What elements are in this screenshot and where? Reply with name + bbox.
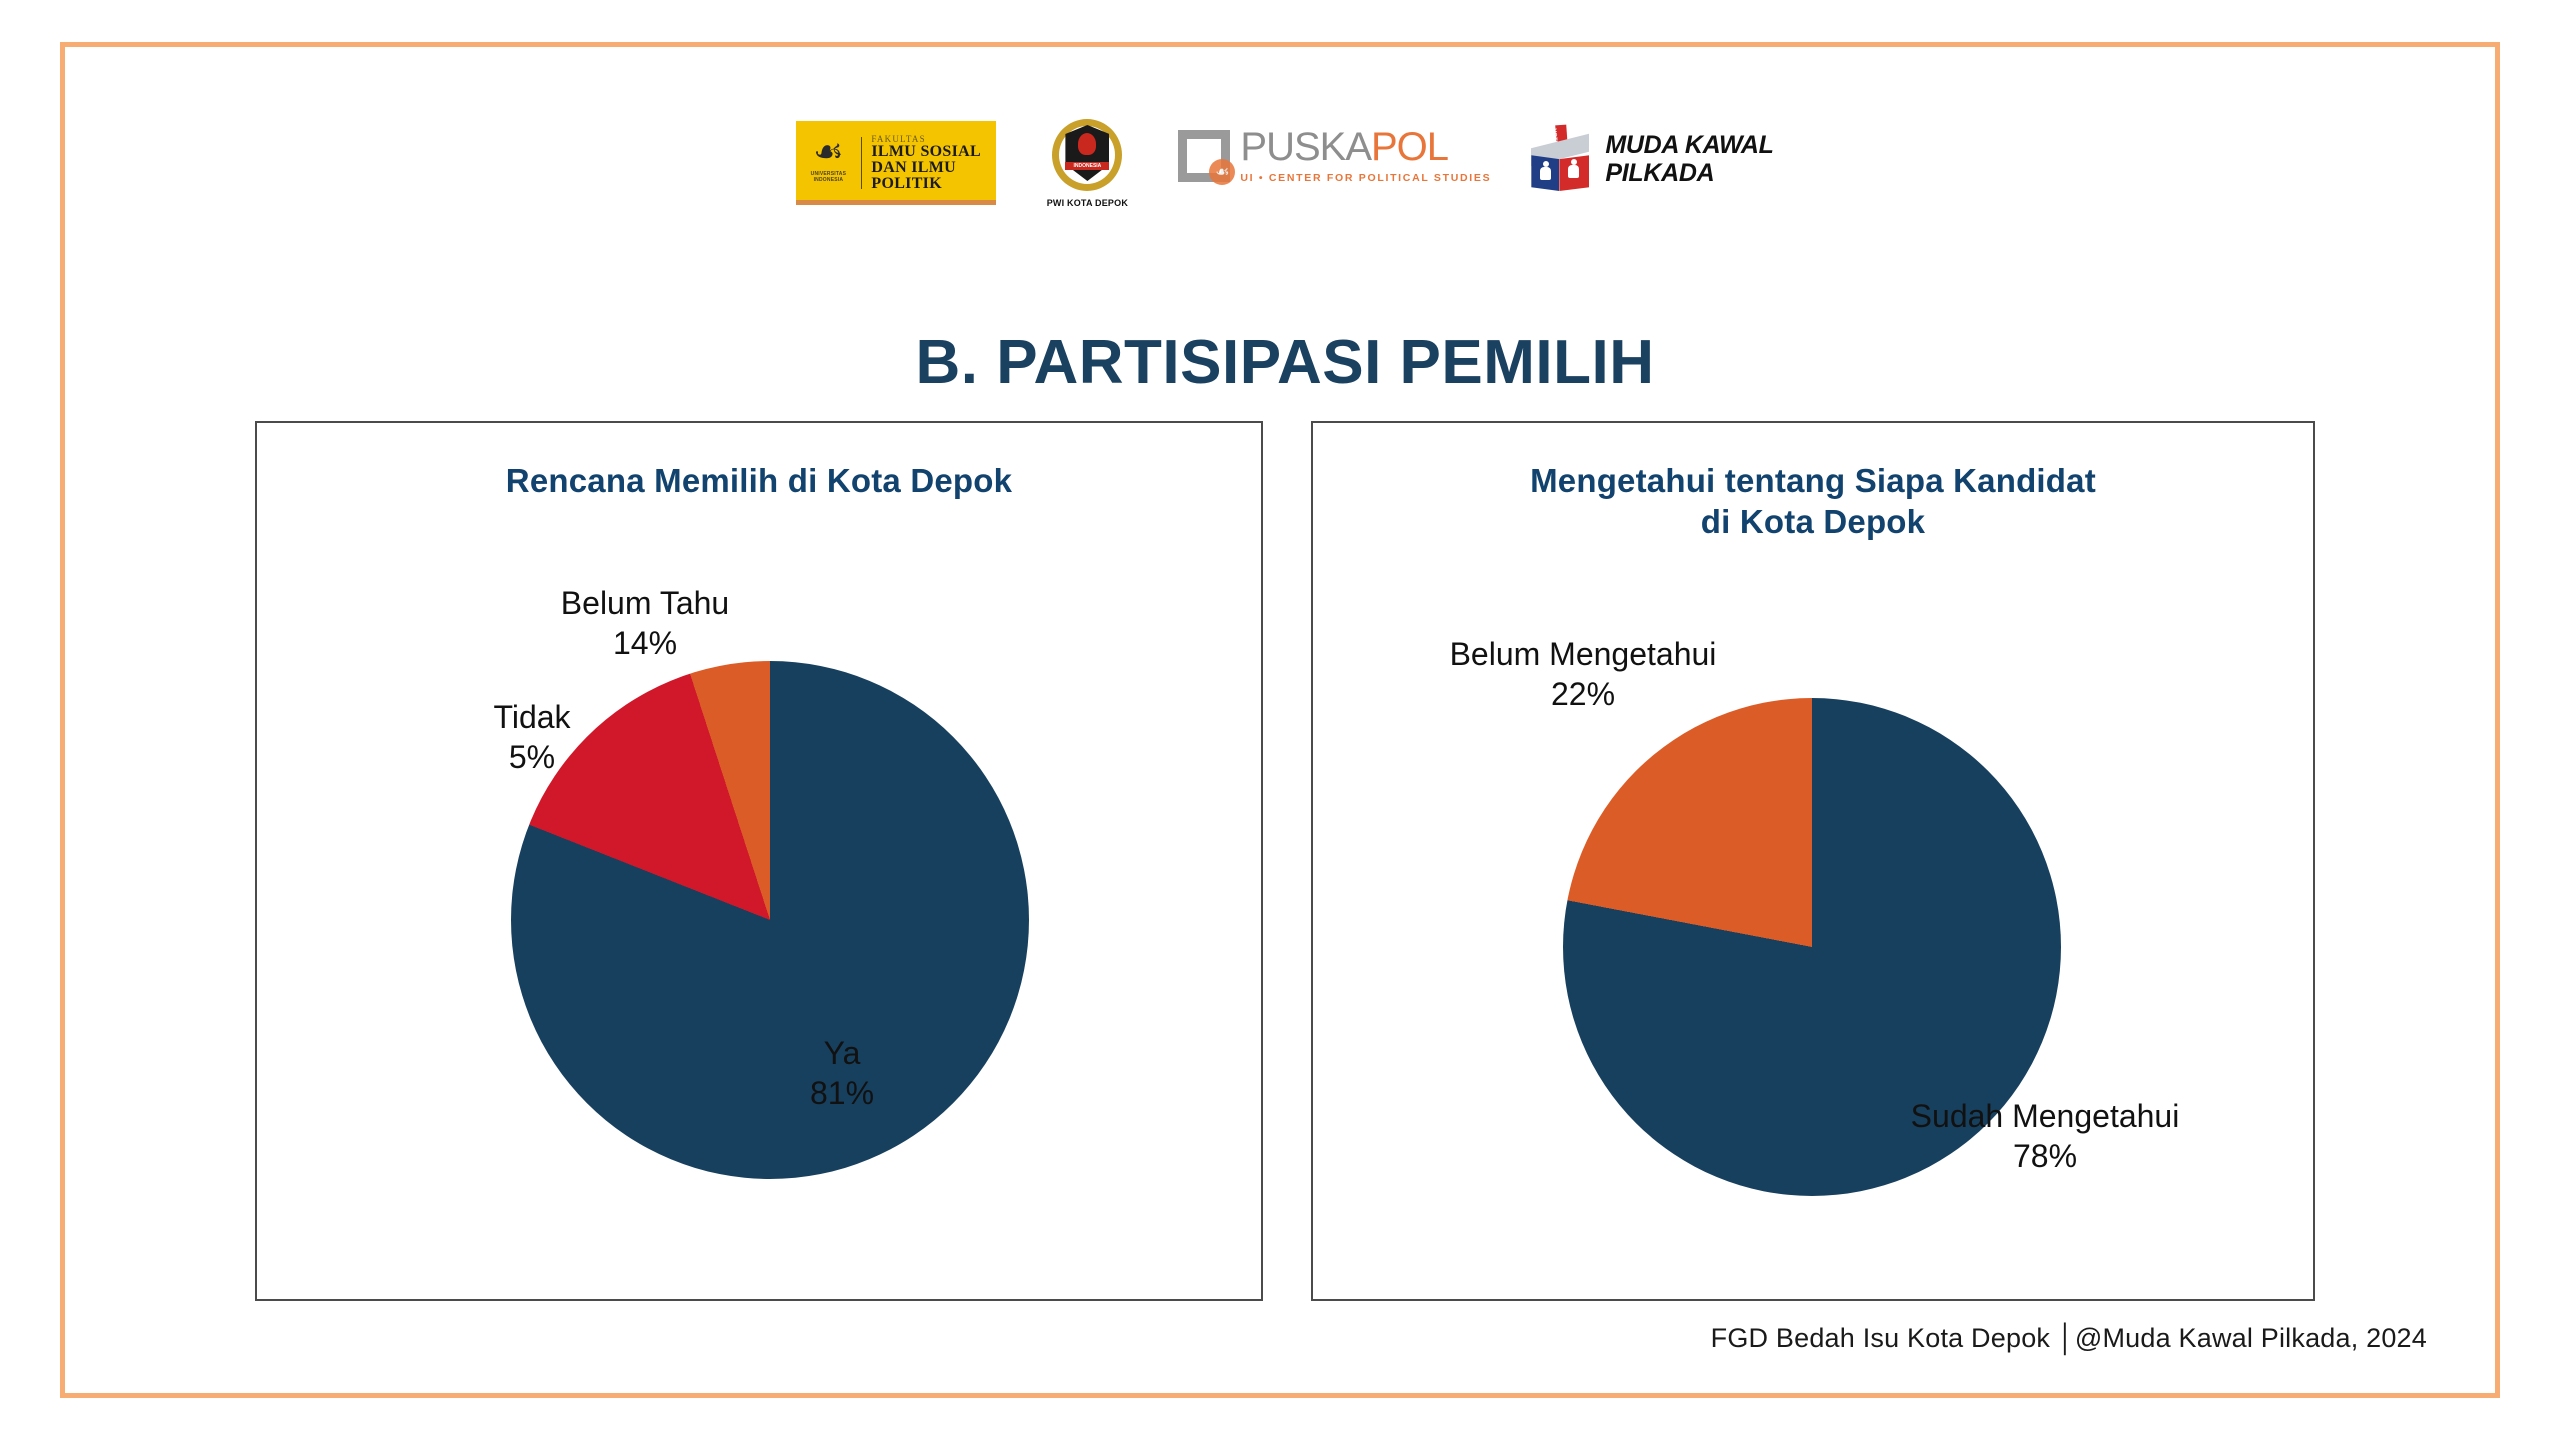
slice-label-tidak-name: Tidak [493,699,570,735]
puskapol-name-gray: PUSKA [1240,125,1371,169]
fisip-line-2: DAN ILMU [871,160,981,176]
puskapol-tagline: UI • CENTER FOR POLITICAL STUDIES [1240,172,1491,184]
mkp-line-2: PILKADA [1605,159,1773,187]
slide-frame: ☙ UNIVERSITAS INDONESIA FAKULTAS ILMU SO… [60,42,2500,1398]
chart-title-right: Mengetahui tentang Siapa Kandidat di Kot… [1313,460,2313,542]
fisip-divider [861,137,862,189]
puskapol-logo: ☙ PUSKAPOL UI • CENTER FOR POLITICAL STU… [1178,127,1491,184]
logo-bar: ☙ UNIVERSITAS INDONESIA FAKULTAS ILMU SO… [65,115,2505,225]
puskapol-name: PUSKAPOL [1240,127,1491,167]
mkp-line-1: MUDA KAWAL [1605,131,1773,159]
makara-ui-seal-icon: ☙ UNIVERSITAS INDONESIA [804,133,852,193]
slice-label-belum-mengetahui: Belum Mengetahui 22% [1373,634,1793,714]
person-icon-right [1568,165,1579,178]
pwi-inner-label: INDONESIA [1065,162,1109,170]
pwi-shield-icon: INDONESIA [1052,117,1122,195]
puskapol-seal-icon: ☙ [1209,159,1235,185]
footer-credit: FGD Bedah Isu Kota Depok │@Muda Kawal Pi… [1711,1323,2427,1354]
slice-label-belum-tahu-name: Belum Tahu [561,585,729,621]
fisip-line-1: ILMU SOSIAL [871,144,981,160]
muda-kawal-pilkada-logo: VOTE MUDA KAWAL PILKADA [1527,123,1773,195]
chart-title-left: Rencana Memilih di Kota Depok [257,460,1261,501]
slice-label-belum-mengetahui-value: 22% [1373,674,1793,714]
mkp-wordmark: MUDA KAWAL PILKADA [1605,131,1773,187]
pie-stage-left: Belum Tahu 14% Tidak 5% Ya 81% [257,501,1261,1261]
fisip-seal-caption: UNIVERSITAS INDONESIA [804,171,852,183]
ballot-box-icon: VOTE [1527,123,1593,195]
page-title: B. PARTISIPASI PEMILIH [65,327,2505,398]
puskapol-wordmark: PUSKAPOL UI • CENTER FOR POLITICAL STUDI… [1240,127,1491,184]
fisip-ui-logo: ☙ UNIVERSITAS INDONESIA FAKULTAS ILMU SO… [796,121,996,205]
slice-label-belum-mengetahui-name: Belum Mengetahui [1450,636,1717,672]
slice-label-sudah-mengetahui: Sudah Mengetahui 78% [1805,1096,2285,1176]
puskapol-square-icon: ☙ [1178,130,1230,182]
chart-panel-mengetahui-kandidat: Mengetahui tentang Siapa Kandidat di Kot… [1311,421,2315,1301]
slice-label-ya-value: 81% [727,1073,957,1113]
slice-label-ya: Ya 81% [727,1033,957,1113]
slice-label-sudah-mengetahui-value: 78% [1805,1136,2285,1176]
makara-glyph-icon: ☙ [813,135,843,169]
slice-label-tidak-value: 5% [417,737,647,777]
person-icon-left [1540,167,1551,180]
slice-label-sudah-mengetahui-name: Sudah Mengetahui [1911,1098,2180,1134]
pie-stage-right: Belum Mengetahui 22% Sudah Mengetahui 78… [1313,542,2313,1302]
puskapol-name-orange: POL [1371,125,1448,169]
pwi-flame-icon [1078,133,1096,155]
pwi-kota-depok-logo: INDONESIA PWI KOTA DEPOK [1032,117,1142,208]
fisip-line-3: POLITIK [871,176,981,192]
slice-label-belum-tahu: Belum Tahu 14% [495,583,795,663]
slice-label-belum-tahu-value: 14% [495,623,795,663]
pwi-caption: PWI KOTA DEPOK [1047,198,1128,208]
slice-label-tidak: Tidak 5% [417,697,647,777]
fisip-accent-bar [796,200,996,205]
chart-title-right-line-2: di Kota Depok [1313,501,2313,542]
fisip-wordmark: FAKULTAS ILMU SOSIAL DAN ILMU POLITIK [871,134,981,192]
slice-label-ya-name: Ya [824,1035,861,1071]
chart-title-right-line-1: Mengetahui tentang Siapa Kandidat [1313,460,2313,501]
chart-panel-rencana-memilih: Rencana Memilih di Kota Depok Belum Tahu… [255,421,1263,1301]
